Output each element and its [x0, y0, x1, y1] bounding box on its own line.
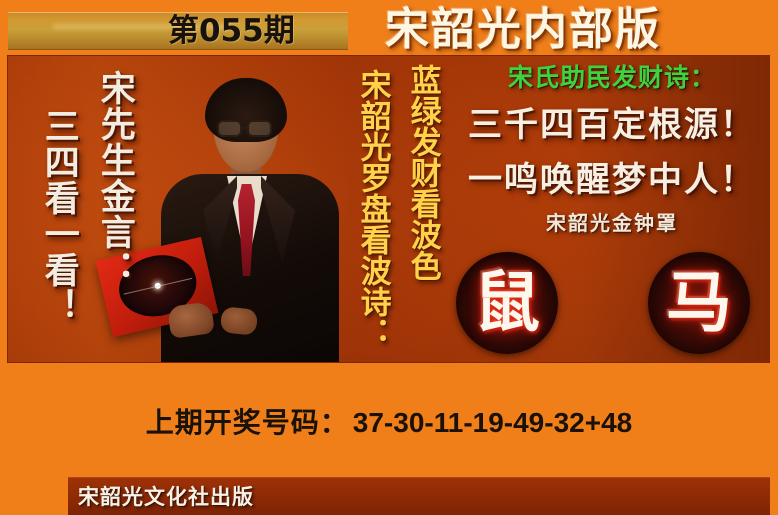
zodiac-group: 鼠 马 — [454, 252, 770, 360]
zodiac-glyph-horse: 马 — [648, 268, 750, 338]
poem-line-1: 三千四百定根源！ — [454, 102, 770, 149]
poster-root: 第055期 宋韶光内部版 宋先生金言： 三四看一看！ 宋韶光罗盘 — [0, 0, 778, 515]
vertical-text-look-three-four: 三四看一看！ — [40, 108, 76, 324]
poem-line-2: 一鸣唤醒梦中人！ — [454, 157, 770, 204]
header: 第055期 宋韶光内部版 — [0, 0, 778, 58]
vertical-text-compass-poem: 宋韶光罗盘看波诗： — [356, 69, 388, 348]
eyeglass-bridge — [242, 127, 247, 129]
vertical-text-golden-words: 宋先生金言： — [96, 70, 132, 286]
last-draw-numbers: 37-30-11-19-49-32+48 — [353, 407, 632, 438]
eyeglass-right — [247, 120, 272, 137]
golden-bell-subtitle: 宋韶光金钟罩 — [454, 210, 770, 236]
main-poster-panel: 宋先生金言： 三四看一看！ 宋韶光罗盘看波诗： 蓝绿发财看波色 宋氏助 — [7, 55, 770, 363]
portrait-photo — [143, 56, 358, 363]
zodiac-glyph-rat: 鼠 — [456, 268, 558, 338]
right-text-block: 宋氏助民发财诗： 三千四百定根源！ 一鸣唤醒梦中人！ 宋韶光金钟罩 — [454, 62, 770, 236]
eyeglass-left — [217, 120, 242, 137]
vertical-text-blue-green-wave: 蓝绿发财看波色 — [406, 64, 438, 281]
last-draw-line: 上期开奖号码：37-30-11-19-49-32+48 — [0, 405, 778, 441]
zodiac-circle-horse: 马 — [648, 252, 750, 354]
issue-label: 第055期 — [168, 13, 295, 49]
hand-left — [167, 301, 215, 339]
publisher-label: 宋韶光文化社出版 — [78, 483, 254, 511]
zodiac-circle-rat: 鼠 — [456, 252, 558, 354]
footer-bar: 宋韶光文化社出版 — [68, 477, 770, 515]
poem-heading: 宋氏助民发财诗： — [454, 62, 770, 94]
last-draw-label: 上期开奖号码： — [146, 406, 349, 439]
page-title: 宋韶光内部版 — [385, 4, 661, 56]
hand-right — [220, 306, 259, 336]
